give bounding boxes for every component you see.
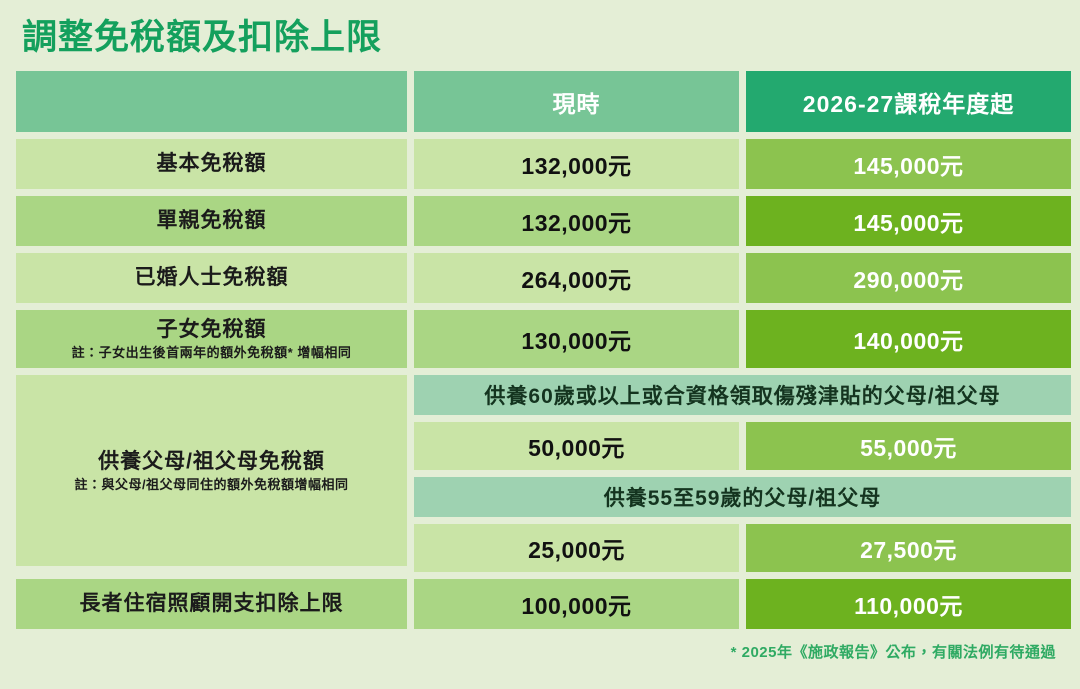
header-cell-blank <box>16 71 407 132</box>
row-current-value: 100,000元 <box>521 587 631 621</box>
parent-current-cell: 50,000元 <box>414 422 739 470</box>
parent-label: 供養父母/祖父母免稅額 <box>98 449 325 474</box>
row-current-cell: 264,000元 <box>414 253 739 303</box>
parent-subheader-55to59: 供養55至59歲的父母/祖父母 <box>414 477 1071 517</box>
header-cell-current: 現時 <box>414 71 739 132</box>
parent-value-row: 25,000元 27,500元 <box>414 524 1071 572</box>
parent-new-cell: 55,000元 <box>746 422 1071 470</box>
row-label: 長者住宿照顧開支扣除上限 <box>80 591 344 616</box>
parent-new-cell: 27,500元 <box>746 524 1071 572</box>
row-current-value: 130,000元 <box>521 322 631 356</box>
row-current-value: 132,000元 <box>521 204 631 238</box>
parent-subheader-60plus: 供養60歲或以上或合資格領取傷殘津貼的父母/祖父母 <box>414 375 1071 415</box>
table-row: 長者住宿照顧開支扣除上限 100,000元 110,000元 <box>16 579 1064 629</box>
table-row: 子女免稅額 註：子女出生後首兩年的額外免稅額* 增幅相同 130,000元 14… <box>16 310 1064 368</box>
row-label-cell: 長者住宿照顧開支扣除上限 <box>16 579 407 629</box>
allowance-table: 現時 2026-27課稅年度起 基本免稅額 132,000元 145,000元 … <box>16 71 1064 629</box>
parent-value-row: 50,000元 55,000元 <box>414 422 1071 470</box>
table-row: 已婚人士免稅額 264,000元 290,000元 <box>16 253 1064 303</box>
parent-new-value: 55,000元 <box>860 429 957 463</box>
row-label: 單親免稅額 <box>157 208 267 233</box>
row-new-cell: 140,000元 <box>746 310 1071 368</box>
header-cell-new: 2026-27課稅年度起 <box>746 71 1071 132</box>
row-current-cell: 132,000元 <box>414 196 739 246</box>
row-new-cell: 145,000元 <box>746 196 1071 246</box>
row-label-cell: 基本免稅額 <box>16 139 407 189</box>
parent-current-cell: 25,000元 <box>414 524 739 572</box>
parent-current-value: 50,000元 <box>528 429 625 463</box>
row-new-value: 145,000元 <box>853 204 963 238</box>
page-title: 調整免稅額及扣除上限 <box>22 20 1064 55</box>
table-row: 單親免稅額 132,000元 145,000元 <box>16 196 1064 246</box>
row-current-cell: 132,000元 <box>414 139 739 189</box>
row-label-cell: 子女免稅額 註：子女出生後首兩年的額外免稅額* 增幅相同 <box>16 310 407 368</box>
row-current-cell: 130,000元 <box>414 310 739 368</box>
row-label-cell: 單親免稅額 <box>16 196 407 246</box>
parent-note: 註：與父母/祖父母同住的額外免稅額增幅相同 <box>74 477 348 493</box>
table-header-row: 現時 2026-27課稅年度起 <box>16 71 1064 132</box>
row-new-value: 290,000元 <box>853 261 963 295</box>
parent-allowance-section: 供養父母/祖父母免稅額 註：與父母/祖父母同住的額外免稅額增幅相同 供養60歲或… <box>16 375 1064 572</box>
footnote: * 2025年《施政報告》公布，有關法例有待通過 <box>16 641 1064 662</box>
row-new-cell: 290,000元 <box>746 253 1071 303</box>
row-label: 基本免稅額 <box>157 151 267 176</box>
table-row: 基本免稅額 132,000元 145,000元 <box>16 139 1064 189</box>
row-label: 子女免稅額 <box>157 317 267 342</box>
row-new-value: 140,000元 <box>853 322 963 356</box>
row-label: 已婚人士免稅額 <box>135 265 289 290</box>
row-new-value: 110,000元 <box>854 587 963 621</box>
row-note: 註：子女出生後首兩年的額外免稅額* 增幅相同 <box>72 345 352 361</box>
row-current-value: 132,000元 <box>521 147 631 181</box>
row-new-cell: 145,000元 <box>746 139 1071 189</box>
row-current-value: 264,000元 <box>521 261 631 295</box>
infographic-page: 調整免稅額及扣除上限 現時 2026-27課稅年度起 基本免稅額 132,000… <box>0 0 1080 689</box>
row-label-cell: 已婚人士免稅額 <box>16 253 407 303</box>
row-new-cell: 110,000元 <box>746 579 1071 629</box>
row-new-value: 145,000元 <box>853 147 963 181</box>
parent-values-group: 供養60歲或以上或合資格領取傷殘津貼的父母/祖父母 50,000元 55,000… <box>414 375 1071 572</box>
parent-label-cell: 供養父母/祖父母免稅額 註：與父母/祖父母同住的額外免稅額增幅相同 <box>16 375 407 566</box>
parent-current-value: 25,000元 <box>528 531 625 565</box>
parent-new-value: 27,500元 <box>860 531 957 565</box>
row-current-cell: 100,000元 <box>414 579 739 629</box>
